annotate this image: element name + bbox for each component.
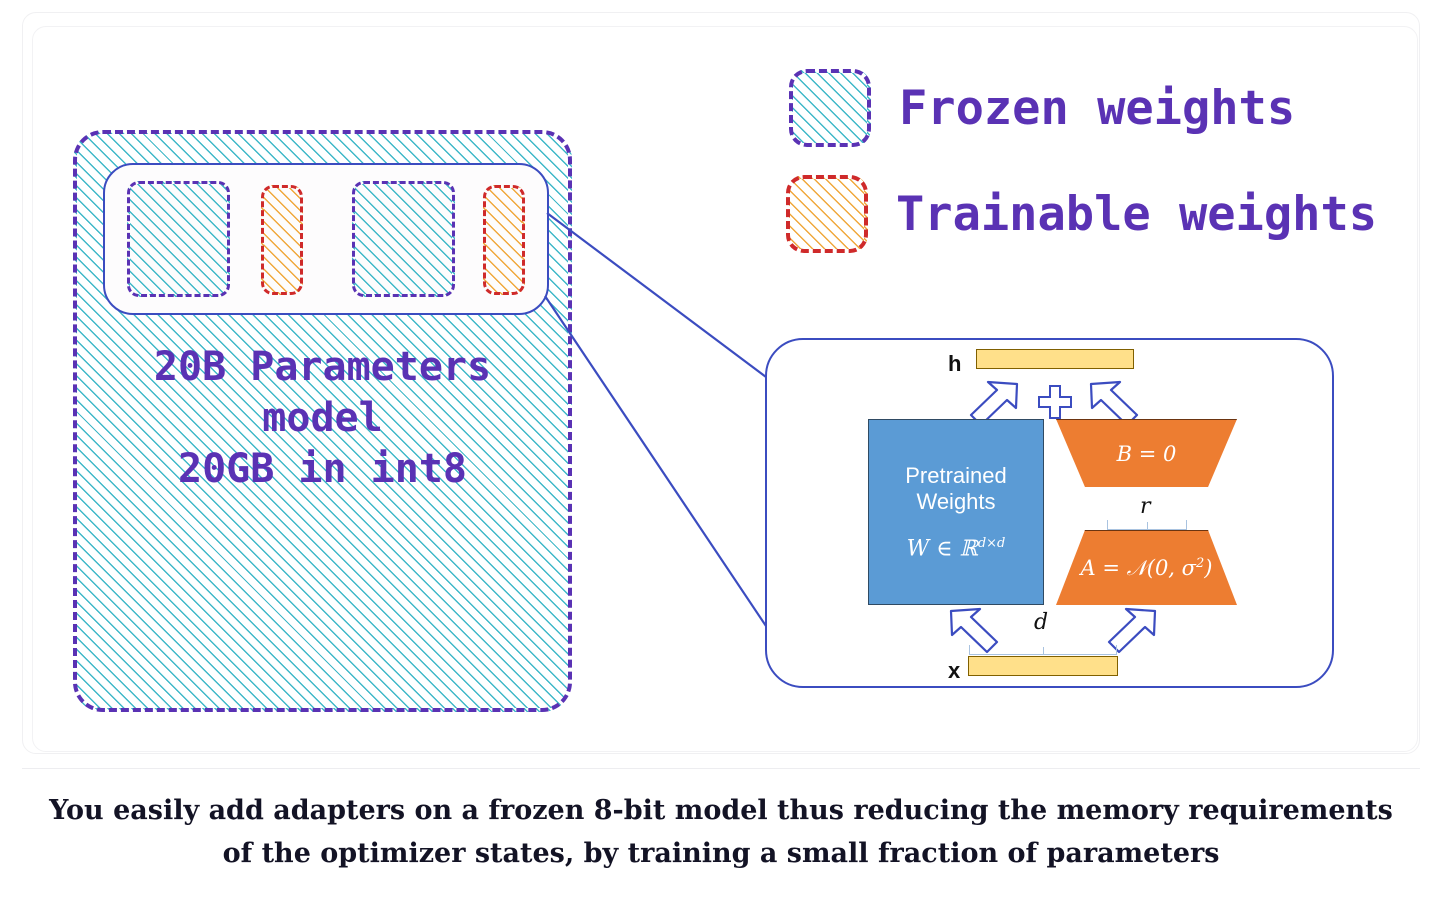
trainable-swatch-icon (786, 175, 868, 253)
input-x-label: x (948, 660, 960, 682)
diagram-page: 20B Parameters model 20GB in int8 Frozen… (0, 0, 1442, 910)
dim-d-label: d (1034, 612, 1048, 634)
plus-icon (1035, 382, 1075, 422)
pretrained-weights-box: Pretrained Weights W ∈ ℝd×d (868, 419, 1044, 605)
frozen-block-1 (127, 181, 230, 297)
pretrained-weights-title: Pretrained Weights (905, 463, 1007, 517)
output-h-label: h (948, 353, 961, 375)
input-x-bar (968, 656, 1118, 676)
matrix-a-trapezoid: A = 𝒩(0, σ2) (1056, 530, 1237, 605)
trainable-block-1 (261, 185, 303, 295)
lora-detail-panel: h Pretrained Weights W ∈ ℝd×d B = 0 r (765, 338, 1334, 688)
output-h-bar (976, 349, 1134, 369)
legend-item-trainable: Trainable weights (786, 175, 1377, 253)
dim-r-label: r (1140, 496, 1151, 518)
legend-item-frozen: Frozen weights (789, 69, 1295, 147)
frozen-swatch-icon (789, 69, 871, 147)
model-summary-label: 20B Parameters model 20GB in int8 (73, 342, 572, 496)
formula-main: W ∈ ℝ (907, 536, 978, 561)
legend-label-trainable: Trainable weights (896, 191, 1377, 238)
dim-d-bracket (969, 645, 1117, 655)
formula-exponent: d×d (978, 536, 1006, 551)
frozen-block-2 (352, 181, 455, 297)
model-layer-strip (103, 163, 549, 315)
trainable-block-2 (483, 185, 525, 295)
matrix-b-label: B = 0 (1117, 442, 1177, 466)
matrix-b-trapezoid: B = 0 (1056, 419, 1237, 487)
legend-label-frozen: Frozen weights (899, 85, 1295, 132)
pretrained-weights-formula: W ∈ ℝd×d (907, 536, 1006, 561)
figure-caption: You easily add adapters on a frozen 8-bi… (40, 790, 1402, 875)
dim-r-bracket (1107, 520, 1187, 530)
matrix-a-label: A = 𝒩(0, σ2) (1081, 556, 1213, 581)
caption-divider (22, 768, 1420, 769)
